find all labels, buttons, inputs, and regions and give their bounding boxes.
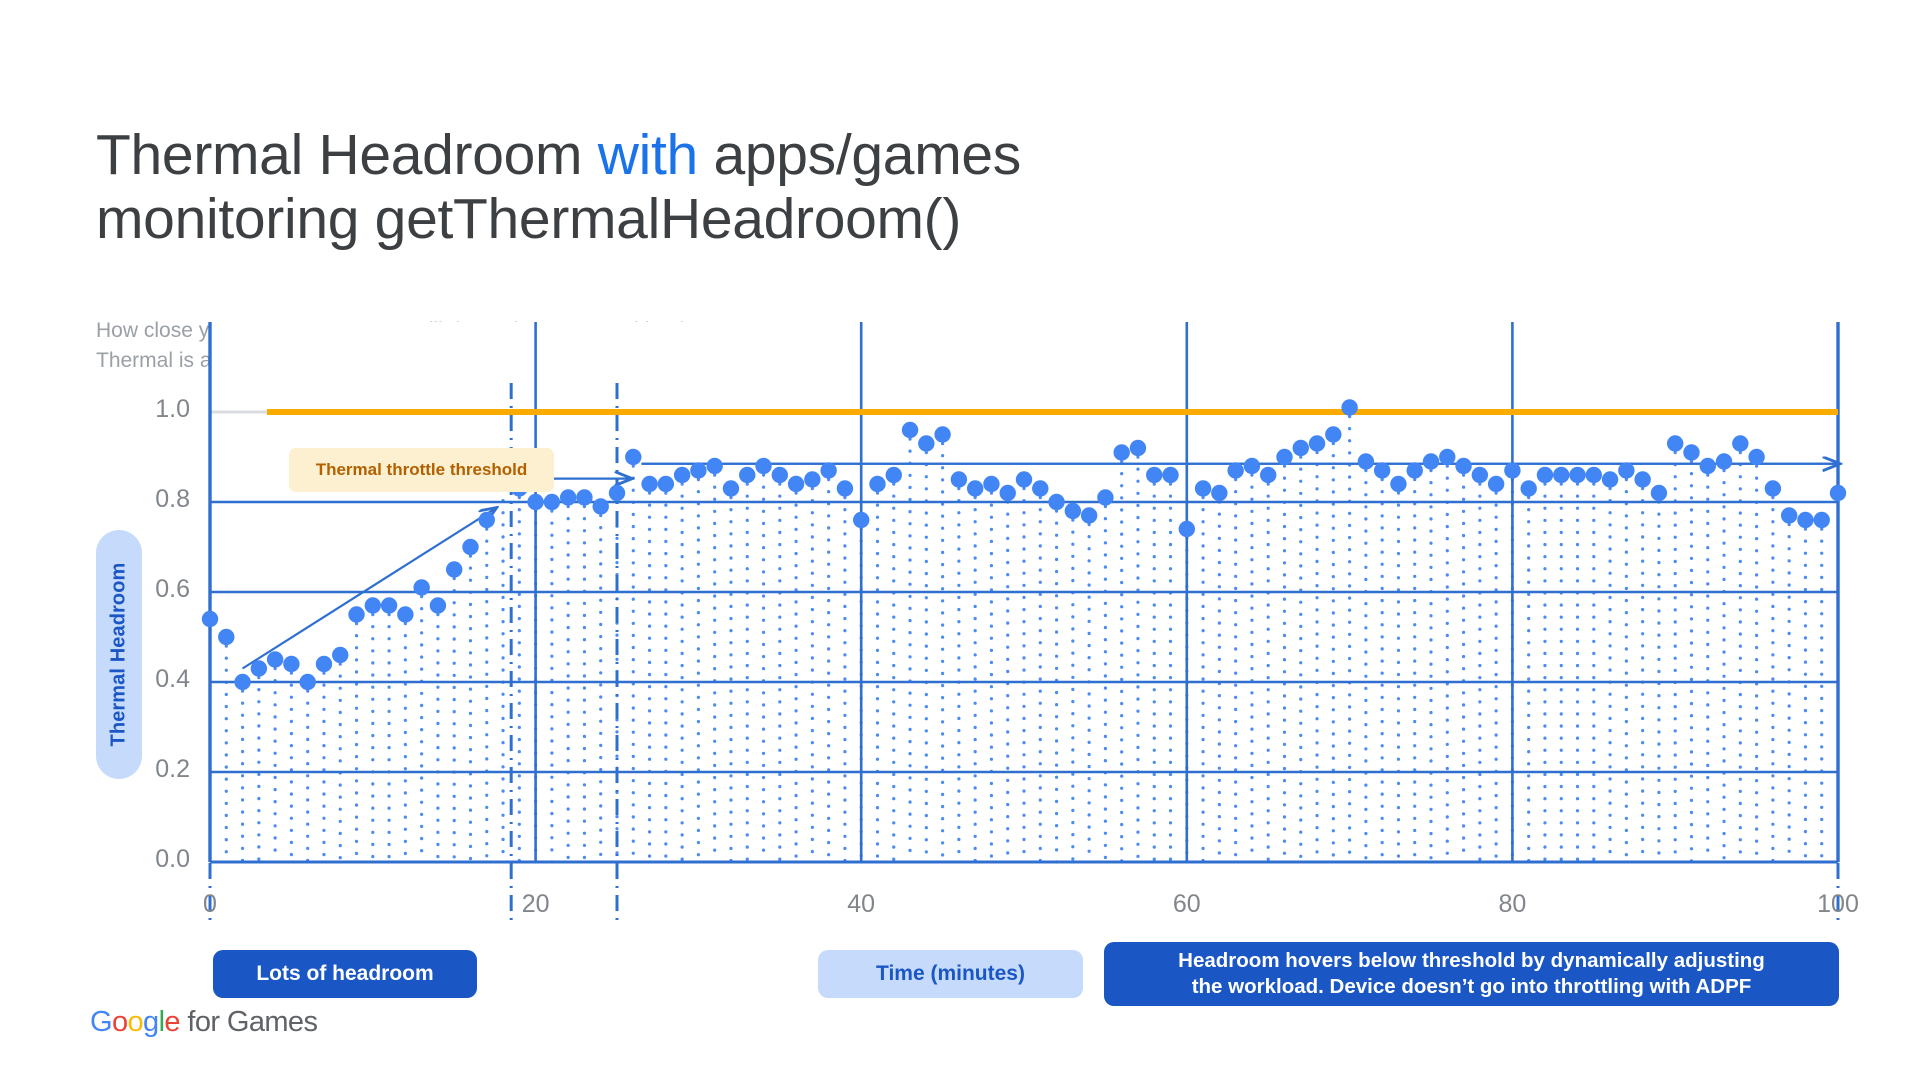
data-point bbox=[462, 539, 478, 555]
data-point bbox=[820, 462, 836, 478]
y-axis-tick-label: 0.6 bbox=[126, 575, 190, 604]
x-axis-tick-label: 40 bbox=[826, 890, 896, 919]
data-point bbox=[1700, 458, 1716, 474]
y-axis-tick-label: 0.4 bbox=[126, 665, 190, 694]
headroom-hovers-callout: Headroom hovers below threshold by dynam… bbox=[1104, 942, 1839, 1006]
data-point bbox=[1227, 462, 1243, 478]
x-axis-tick-label: 20 bbox=[501, 890, 571, 919]
title-accent-with: with bbox=[598, 123, 698, 187]
data-point bbox=[1651, 485, 1667, 501]
data-point bbox=[625, 449, 641, 465]
data-point bbox=[544, 494, 560, 510]
data-point bbox=[609, 485, 625, 501]
data-point bbox=[1667, 435, 1683, 451]
data-point bbox=[593, 498, 609, 514]
logo-for-games-text: for Games bbox=[180, 1006, 317, 1038]
data-point bbox=[1765, 480, 1781, 496]
data-point bbox=[853, 512, 869, 528]
data-point bbox=[739, 467, 755, 483]
data-point bbox=[1016, 471, 1032, 487]
lots-of-headroom-badge: Lots of headroom bbox=[213, 950, 477, 998]
data-point bbox=[1341, 399, 1357, 415]
data-point bbox=[1423, 453, 1439, 469]
data-point bbox=[1390, 476, 1406, 492]
data-point bbox=[1407, 462, 1423, 478]
data-point bbox=[413, 579, 429, 595]
data-point bbox=[706, 458, 722, 474]
data-point bbox=[283, 656, 299, 672]
data-point bbox=[316, 656, 332, 672]
data-point bbox=[886, 467, 902, 483]
data-point bbox=[267, 651, 283, 667]
data-point bbox=[902, 422, 918, 438]
data-point bbox=[1179, 521, 1195, 537]
data-point bbox=[1244, 458, 1260, 474]
data-point bbox=[1097, 489, 1113, 505]
data-point bbox=[430, 597, 446, 613]
y-axis-tick-label: 0.0 bbox=[126, 845, 190, 874]
data-point bbox=[218, 629, 234, 645]
subtitle: How close you can operate to 1.0 will de… bbox=[96, 316, 1396, 376]
data-point bbox=[658, 476, 674, 492]
page-title: Thermal Headroom with apps/games monitor… bbox=[96, 124, 1396, 252]
data-point bbox=[1716, 453, 1732, 469]
logo-letter-o1: o bbox=[112, 1006, 128, 1038]
data-point bbox=[1569, 467, 1585, 483]
data-point bbox=[967, 480, 983, 496]
x-axis-label-text: Time (minutes) bbox=[876, 962, 1025, 986]
y-axis-tick-label: 0.8 bbox=[126, 485, 190, 514]
data-point bbox=[723, 480, 739, 496]
data-point bbox=[1293, 440, 1309, 456]
data-point bbox=[1618, 462, 1634, 478]
data-point bbox=[234, 674, 250, 690]
google-for-games-logo: Google for Games bbox=[90, 1006, 317, 1039]
data-point bbox=[1504, 462, 1520, 478]
data-point bbox=[1195, 480, 1211, 496]
data-point bbox=[1113, 444, 1129, 460]
data-point bbox=[1374, 462, 1390, 478]
logo-letter-g: G bbox=[90, 1006, 112, 1038]
callout-line-2: the workload. Device doesn’t go into thr… bbox=[1192, 975, 1752, 998]
data-point bbox=[381, 597, 397, 613]
logo-letter-g2: g bbox=[143, 1006, 159, 1038]
y-axis-tick-label: 0.2 bbox=[126, 755, 190, 784]
data-point bbox=[1276, 449, 1292, 465]
data-point bbox=[804, 471, 820, 487]
data-point bbox=[1309, 435, 1325, 451]
ramp-up-arrow bbox=[243, 509, 495, 669]
data-point bbox=[837, 480, 853, 496]
title-line2: monitoring getThermalHeadroom() bbox=[96, 187, 961, 251]
data-point bbox=[934, 426, 950, 442]
data-point bbox=[1048, 494, 1064, 510]
y-axis-label-pill: Thermal Headroom bbox=[96, 530, 142, 779]
data-point bbox=[690, 462, 706, 478]
data-point bbox=[1520, 480, 1536, 496]
data-point bbox=[869, 476, 885, 492]
data-point bbox=[1634, 471, 1650, 487]
data-point bbox=[1358, 453, 1374, 469]
data-point bbox=[772, 467, 788, 483]
x-axis-label-pill: Time (minutes) bbox=[818, 950, 1083, 998]
data-point bbox=[1065, 503, 1081, 519]
data-point bbox=[1455, 458, 1471, 474]
y-axis-tick-label: 1.0 bbox=[126, 395, 190, 424]
title-part2: apps/games bbox=[698, 123, 1021, 187]
data-point bbox=[446, 561, 462, 577]
threshold-label-text: Thermal throttle threshold bbox=[316, 460, 528, 480]
logo-letter-o2: o bbox=[128, 1006, 144, 1038]
data-point bbox=[576, 489, 592, 505]
x-axis-tick-label: 80 bbox=[1477, 890, 1547, 919]
data-point bbox=[1488, 476, 1504, 492]
data-point bbox=[299, 674, 315, 690]
data-point bbox=[1537, 467, 1553, 483]
lots-of-headroom-text: Lots of headroom bbox=[256, 962, 433, 986]
data-point bbox=[251, 660, 267, 676]
plot-background bbox=[210, 322, 1838, 862]
thermal-throttle-threshold-annotation: Thermal throttle threshold bbox=[289, 448, 554, 492]
data-point bbox=[1032, 480, 1048, 496]
data-point bbox=[1211, 485, 1227, 501]
data-point bbox=[397, 606, 413, 622]
data-point bbox=[951, 471, 967, 487]
data-point bbox=[1586, 467, 1602, 483]
x-axis-tick-label: 60 bbox=[1152, 890, 1222, 919]
data-point bbox=[1081, 507, 1097, 523]
x-axis-tick-label: 100 bbox=[1803, 890, 1873, 919]
data-point bbox=[1602, 471, 1618, 487]
data-point bbox=[1146, 467, 1162, 483]
data-point bbox=[202, 611, 218, 627]
subtitle-line-1: How close you can operate to 1.0 will de… bbox=[96, 316, 1396, 346]
data-point bbox=[1748, 449, 1764, 465]
subtitle-line-2: Thermal is a slow moving signal; monitor… bbox=[96, 346, 1396, 376]
data-point bbox=[755, 458, 771, 474]
logo-letter-e: e bbox=[164, 1006, 180, 1038]
data-point bbox=[1162, 467, 1178, 483]
callout-line-1: Headroom hovers below threshold by dynam… bbox=[1178, 949, 1765, 972]
data-point bbox=[1732, 435, 1748, 451]
data-point bbox=[1797, 512, 1813, 528]
title-part1: Thermal Headroom bbox=[96, 123, 598, 187]
data-point bbox=[674, 467, 690, 483]
data-point bbox=[1814, 512, 1830, 528]
data-point bbox=[641, 476, 657, 492]
data-point bbox=[1553, 467, 1569, 483]
data-point bbox=[332, 647, 348, 663]
data-point bbox=[1472, 467, 1488, 483]
data-point bbox=[1781, 507, 1797, 523]
data-point bbox=[1683, 444, 1699, 460]
data-point bbox=[1260, 467, 1276, 483]
data-point bbox=[527, 494, 543, 510]
data-point bbox=[1325, 426, 1341, 442]
data-point bbox=[365, 597, 381, 613]
data-point bbox=[918, 435, 934, 451]
data-point bbox=[1130, 440, 1146, 456]
data-point bbox=[1000, 485, 1016, 501]
x-axis-tick-label: 0 bbox=[175, 890, 245, 919]
data-point bbox=[983, 476, 999, 492]
data-point bbox=[1830, 485, 1846, 501]
data-point bbox=[560, 489, 576, 505]
data-point bbox=[1439, 449, 1455, 465]
data-point bbox=[348, 606, 364, 622]
data-point bbox=[479, 512, 495, 528]
data-point bbox=[788, 476, 804, 492]
